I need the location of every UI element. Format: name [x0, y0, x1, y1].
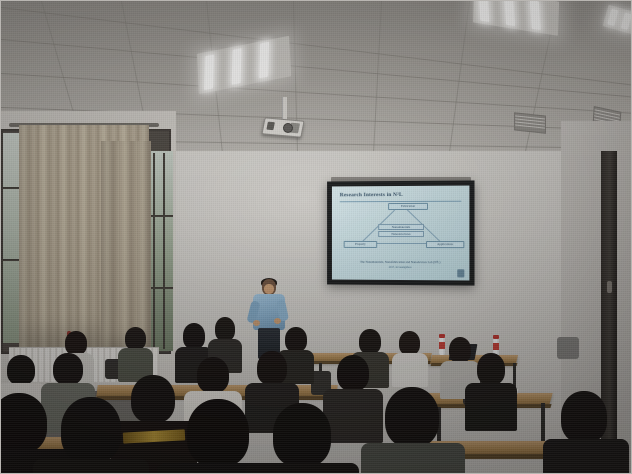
- presenter: [249, 279, 289, 359]
- light-tube: [232, 48, 242, 85]
- bottle-cap: [439, 334, 445, 338]
- diagram-node-top: Fabrication: [388, 203, 428, 210]
- projection-screen: Research Interests in N²L Fabrication Pr…: [327, 180, 474, 285]
- presenter-hand: [253, 320, 260, 326]
- bottle-cap: [493, 335, 499, 339]
- projected-slide: Research Interests in N²L Fabrication Pr…: [332, 186, 469, 281]
- presenter-hand: [274, 318, 281, 324]
- light-tube: [259, 42, 269, 79]
- light-tube: [530, 0, 541, 30]
- diagram-center-label: Nanostructures: [378, 231, 424, 237]
- light-tube: [504, 0, 515, 26]
- slide-title: Research Interests in N²L: [340, 192, 460, 199]
- chair[interactable]: [557, 337, 579, 359]
- presenter-face: [264, 284, 274, 294]
- diagram-center-label: Nanomaterials: [378, 224, 424, 230]
- light-tube: [204, 55, 214, 91]
- diagram-node-bottom-left: Property: [344, 241, 377, 248]
- window-bar: [163, 153, 165, 349]
- bottle-label: [493, 343, 499, 350]
- door-knob[interactable]: [607, 281, 612, 293]
- university-crest-icon: [457, 269, 464, 277]
- slide-footer-line-2: 2017, in Guangzhou: [332, 266, 469, 270]
- window-curtain[interactable]: [101, 141, 151, 353]
- light-tube: [478, 0, 489, 22]
- light-tube: [607, 9, 618, 26]
- light-tube: [621, 13, 632, 30]
- bottle-label: [439, 342, 445, 349]
- slide-footer-line-1: The Nanomaterials, Nanofabrication and N…: [332, 260, 469, 265]
- window-bar: [153, 153, 155, 349]
- projector-lens: [283, 123, 293, 133]
- diagram-node-bottom-right: Applications: [426, 241, 464, 248]
- ceiling-vent: [514, 112, 546, 133]
- classroom-photo: Research Interests in N²L Fabrication Pr…: [0, 0, 632, 474]
